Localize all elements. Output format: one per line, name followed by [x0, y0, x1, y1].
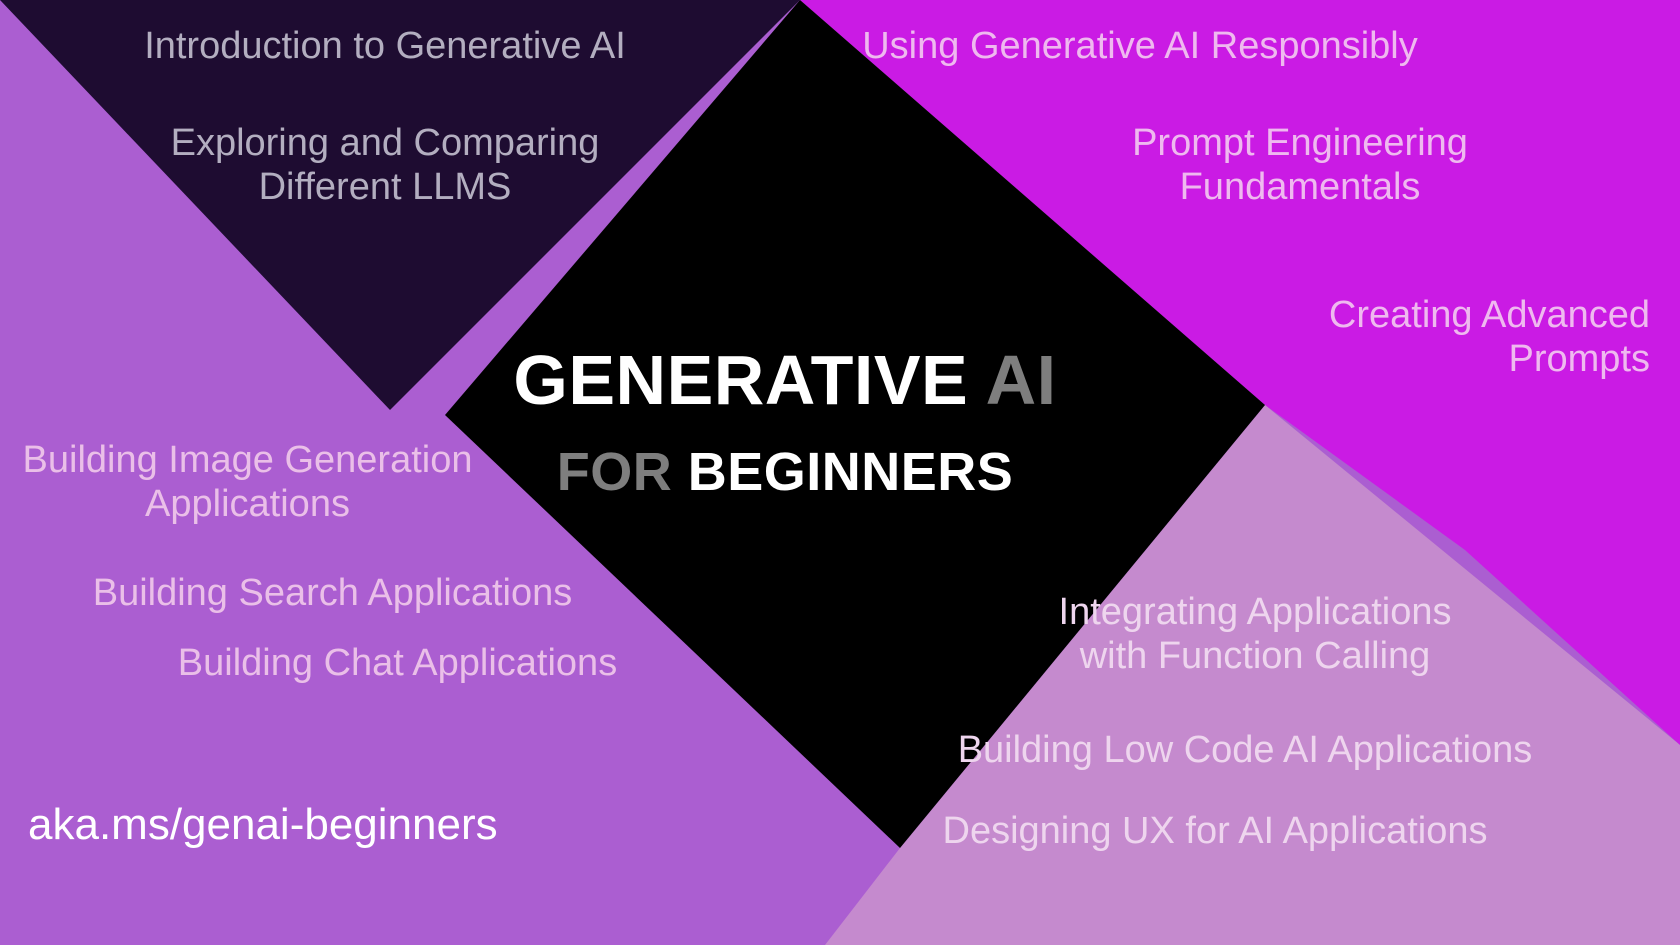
topic-building-search-applications: Building Search Applications	[0, 571, 665, 615]
topic-building-low-code-ai-applications: Building Low Code AI Applications	[900, 728, 1590, 772]
topic-prompt-engineering-fundamentals: Prompt Engineering Fundamentals	[950, 121, 1650, 210]
title-lockup: GENERATIVE AI FOR BEGINNERS	[440, 345, 1130, 499]
poster-canvas: Introduction to Generative AI Exploring …	[0, 0, 1680, 945]
topic-using-generative-ai-responsibly: Using Generative AI Responsibly	[790, 24, 1490, 68]
title-word-for: FOR	[557, 442, 688, 502]
topic-introduction-to-generative-ai: Introduction to Generative AI	[40, 24, 730, 68]
short-url-link[interactable]: aka.ms/genai-beginners	[28, 800, 498, 850]
topic-exploring-and-comparing-llms: Exploring and Comparing Different LLMS	[40, 121, 730, 210]
title-line-primary: GENERATIVE AI	[440, 345, 1130, 415]
topic-designing-ux-for-ai-applications: Designing UX for AI Applications	[840, 809, 1590, 853]
title-word-ai: AI	[986, 341, 1057, 419]
text-layer: Introduction to Generative AI Exploring …	[0, 0, 1680, 945]
title-word-generative: GENERATIVE	[513, 341, 985, 419]
topic-building-image-generation-applications: Building Image Generation Applications	[0, 438, 510, 527]
topic-building-chat-applications: Building Chat Applications	[0, 641, 795, 685]
title-word-beginners: BEGINNERS	[688, 442, 1014, 502]
title-line-secondary: FOR BEGINNERS	[440, 415, 1130, 499]
topic-integrating-applications-with-function-calling: Integrating Applications with Function C…	[985, 590, 1525, 679]
